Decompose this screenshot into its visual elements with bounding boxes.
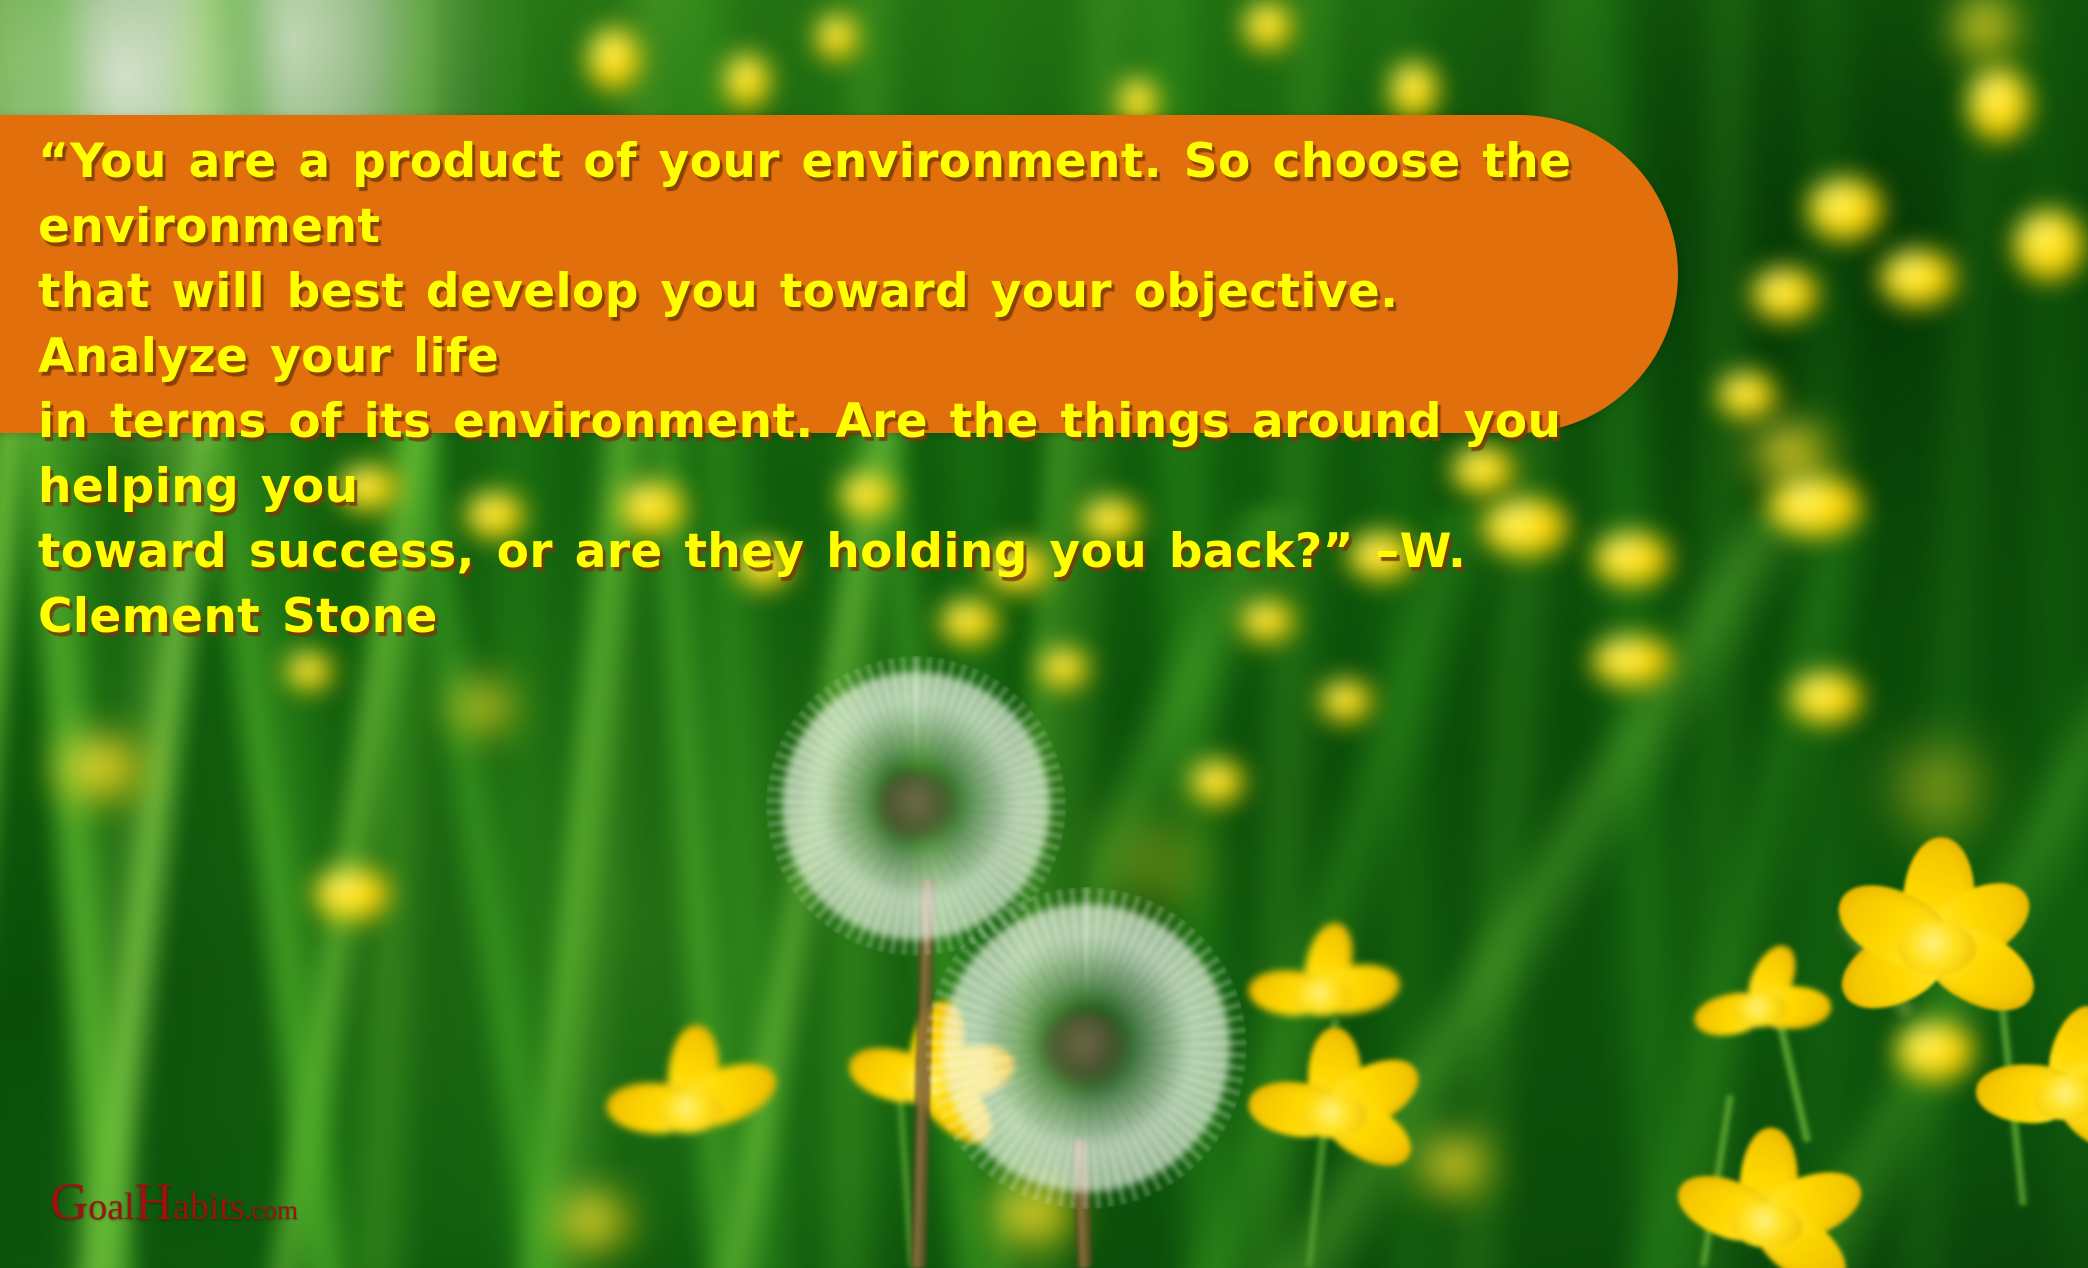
logo-text-abits: abits: [173, 1186, 245, 1228]
site-logo[interactable]: GoalHabits.com: [50, 1176, 298, 1229]
flower-bokeh: [1320, 680, 1372, 722]
flower-bokeh: [724, 54, 770, 108]
buttercup-flower: [591, 1041, 790, 1198]
flower-bokeh: [314, 868, 390, 920]
flower-bokeh: [1768, 476, 1862, 536]
flower-bokeh: [1592, 636, 1672, 686]
buttercup-flower: [1679, 950, 1843, 1082]
buttercup-flower: [1830, 866, 2044, 1042]
logo-text-oal: oal: [88, 1186, 134, 1228]
flower-core: [1898, 922, 1975, 975]
flower-bokeh: [816, 14, 858, 60]
seedhead-hub: [1043, 1011, 1129, 1086]
flower-bokeh: [560, 1196, 626, 1246]
buttercup-flower: [1236, 1044, 1434, 1202]
flower-bokeh: [1594, 532, 1670, 586]
quote-graphic-canvas: “You are a product of your environment. …: [0, 0, 2088, 1268]
dandelion-seedhead-lower: [942, 904, 1230, 1192]
flower-core: [1292, 978, 1351, 1016]
flower-bokeh: [588, 28, 640, 90]
flower-bokeh: [1752, 268, 1818, 320]
buttercup-flower: [1965, 1018, 2088, 1190]
flower-bokeh: [1880, 250, 1956, 306]
logo-text-dotcom: .com: [245, 1195, 298, 1225]
quote-text: “You are a product of your environment. …: [38, 129, 1598, 649]
flower-bokeh: [1958, 0, 2012, 54]
flower-bokeh: [456, 686, 510, 728]
flower-bokeh: [1756, 428, 1826, 478]
flower-bokeh: [1968, 68, 2030, 140]
flower-bokeh: [1190, 760, 1244, 804]
flower-bokeh: [2014, 210, 2084, 280]
quote-banner: “You are a product of your environment. …: [0, 115, 1678, 433]
logo-letter-g: G: [50, 1173, 88, 1231]
seedhead-hub: [876, 771, 956, 841]
logo-letter-h: H: [135, 1173, 173, 1231]
flower-bokeh: [1128, 842, 1188, 888]
dandelion-seedhead-upper: [782, 672, 1050, 940]
flower-bokeh: [1244, 2, 1292, 50]
flower-bokeh: [1808, 178, 1882, 240]
flower-bokeh: [1790, 672, 1862, 724]
buttercup-flower: [1661, 1151, 1871, 1268]
flower-bokeh: [62, 740, 140, 796]
buttercup-flower: [1240, 940, 1404, 1066]
flower-bokeh: [1902, 760, 1974, 816]
flower-bokeh: [1718, 372, 1776, 418]
flower-bokeh: [286, 652, 332, 690]
flower-bokeh: [1390, 62, 1438, 118]
